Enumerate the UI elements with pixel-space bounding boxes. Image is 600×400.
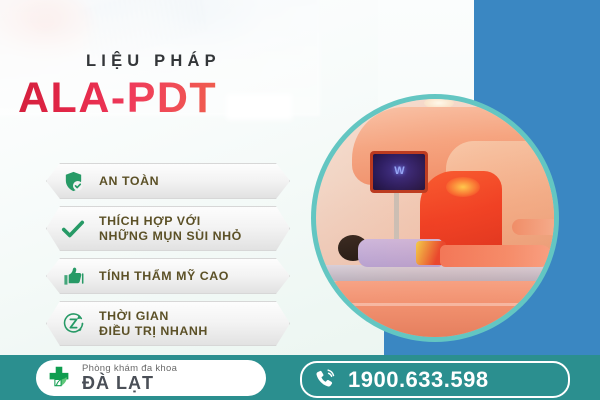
clinic-text-block: Phòng khám đa khoa ĐÀ LẠT	[82, 364, 177, 393]
feature-item-fast-treatment: THỜI GIAN ĐIỀU TRỊ NHANH	[46, 301, 290, 346]
clinic-subtitle: Phòng khám đa khoa	[82, 364, 177, 374]
ringing-phone-icon	[302, 368, 348, 392]
treatment-photo: W	[316, 99, 554, 337]
phone-cta[interactable]: 1900.633.598	[300, 361, 570, 398]
photo-color-tint	[316, 99, 554, 337]
phone-number: 1900.633.598	[348, 367, 489, 393]
feature-item-safety: AN TOÀN	[46, 163, 290, 199]
shield-check-icon	[47, 170, 99, 193]
feature-item-suitability: THÍCH HỢP VỚI NHỮNG MỤN SÙI NHỎ	[46, 206, 290, 251]
feature-item-label: AN TOÀN	[99, 174, 159, 189]
headline-kicker: LIỆU PHÁP	[86, 52, 221, 71]
footer-bar: Phòng khám đa khoa ĐÀ LẠT 1900.633.598	[0, 355, 600, 400]
check-mark-icon	[47, 216, 99, 242]
medical-cross-leaf-icon	[36, 363, 82, 393]
feature-item-label: TÍNH THẨM MỸ CAO	[99, 269, 229, 284]
page-title: ALA-PDT	[18, 74, 217, 123]
thumbs-up-icon	[47, 265, 99, 288]
clinic-badge: Phòng khám đa khoa ĐÀ LẠT	[36, 360, 266, 396]
promo-banner: LIỆU PHÁP ALA-PDT AN TOÀN THÍCH HỢP VỚI …	[0, 0, 600, 400]
feature-item-label: THỜI GIAN ĐIỀU TRỊ NHANH	[99, 309, 208, 338]
clinic-name: ĐÀ LẠT	[82, 374, 177, 392]
fast-time-icon	[47, 311, 99, 336]
treatment-photo-ring: W	[311, 94, 559, 342]
feature-item-aesthetics: TÍNH THẨM MỸ CAO	[46, 258, 290, 294]
feature-item-label: THÍCH HỢP VỚI NHỮNG MỤN SÙI NHỎ	[99, 214, 242, 243]
title-redaction-block	[226, 94, 292, 120]
feature-list: AN TOÀN THÍCH HỢP VỚI NHỮNG MỤN SÙI NHỎ …	[46, 163, 298, 353]
